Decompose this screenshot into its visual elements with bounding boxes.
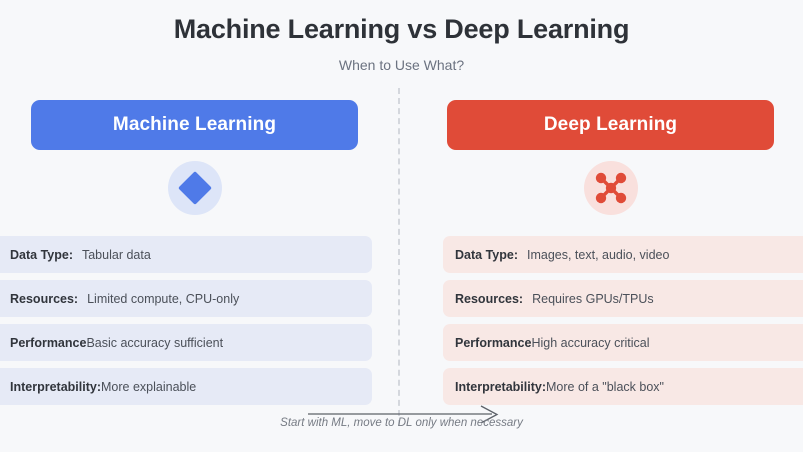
row-label: Data Type: — [455, 248, 518, 262]
row-value: High accuracy critical — [531, 336, 649, 350]
page-subtitle: When to Use What? — [0, 57, 803, 73]
page-title: Machine Learning vs Deep Learning — [0, 14, 803, 45]
footer-caption: Start with ML, move to DL only when nece… — [0, 417, 803, 429]
row-label: Performance — [455, 336, 531, 350]
footer: Start with ML, move to DL only when nece… — [0, 405, 803, 445]
table-row: Data Type: Tabular data — [0, 236, 372, 273]
vertical-dashed-divider — [398, 88, 400, 426]
machine-learning-header-card[interactable]: Machine Learning — [31, 100, 358, 150]
machine-learning-heading-label: Machine Learning — [113, 114, 276, 136]
row-value: Images, text, audio, video — [527, 248, 669, 262]
row-label: Data Type: — [10, 248, 73, 262]
deep-learning-heading-label: Deep Learning — [544, 114, 677, 136]
table-row: Performance High accuracy critical — [443, 324, 803, 361]
deep-learning-header-card[interactable]: Deep Learning — [447, 100, 774, 150]
infographic-canvas: Machine Learning vs Deep Learning When t… — [0, 0, 803, 452]
machine-learning-rows: Data Type: Tabular data Resources: Limit… — [0, 236, 372, 412]
machine-learning-icon-wrap — [31, 157, 358, 219]
row-label: Resources: — [10, 292, 78, 306]
neural-network-icon — [584, 161, 638, 215]
row-label: Interpretability: — [10, 380, 101, 394]
row-value: Limited compute, CPU-only — [87, 292, 239, 306]
table-row: Data Type: Images, text, audio, video — [443, 236, 803, 273]
row-value: Basic accuracy sufficient — [86, 336, 223, 350]
deep-learning-rows: Data Type: Images, text, audio, video Re… — [443, 236, 803, 412]
table-row: Interpretability: More of a "black box" — [443, 368, 803, 405]
table-row: Performance Basic accuracy sufficient — [0, 324, 372, 361]
row-value: Requires GPUs/TPUs — [532, 292, 654, 306]
diamond-icon — [168, 161, 222, 215]
row-value: More explainable — [101, 380, 196, 394]
row-value: More of a "black box" — [546, 380, 664, 394]
deep-learning-icon-wrap — [447, 157, 774, 219]
table-row: Resources: Limited compute, CPU-only — [0, 280, 372, 317]
machine-learning-column: Machine Learning — [0, 100, 372, 219]
row-label: Performance — [10, 336, 86, 350]
table-row: Resources: Requires GPUs/TPUs — [443, 280, 803, 317]
table-row: Interpretability: More explainable — [0, 368, 372, 405]
row-label: Resources: — [455, 292, 523, 306]
row-label: Interpretability: — [455, 380, 546, 394]
deep-learning-column: Deep Learning — [443, 100, 803, 219]
row-value: Tabular data — [82, 248, 151, 262]
